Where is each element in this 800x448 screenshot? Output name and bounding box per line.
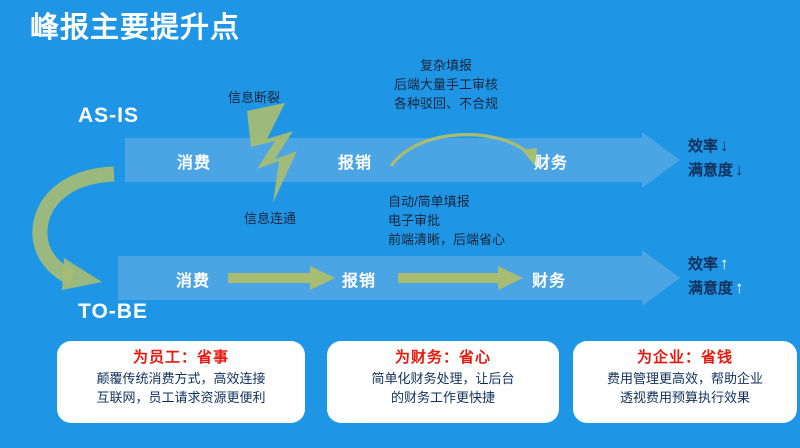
- right-arrow-icon: [228, 265, 336, 291]
- result-as-is-satisfaction: 满意度↓: [688, 158, 744, 182]
- note-complex-process: 复杂填报 后端大量手工审核 各种驳回、不合规: [394, 56, 498, 113]
- result-label: 效率: [688, 256, 718, 273]
- card-title: 为财务：省心: [335, 347, 551, 369]
- lightning-bolt-icon: [245, 103, 325, 203]
- to-be-step-1: 消费: [176, 267, 210, 291]
- note-line: 前端清晰，后端省心: [388, 230, 505, 249]
- card-body-line: 简单化财务处理，让后台: [335, 369, 551, 388]
- note-simple-process: 自动/简单填报 电子审批 前端清晰，后端省心: [388, 192, 505, 249]
- card-body-line: 互联网，员工请求资源更便利: [65, 388, 297, 407]
- result-to-be-efficiency: 效率↑: [688, 252, 744, 276]
- note-line: 自动/简单填报: [388, 192, 505, 211]
- card-body-line: 费用管理更高效，帮助企业: [581, 369, 789, 388]
- note-information-break: 信息断裂: [228, 88, 280, 107]
- stage-label-as-is: AS-IS: [78, 104, 139, 128]
- card-body: 费用管理更高效，帮助企业 透视费用预算执行效果: [581, 369, 789, 407]
- card-title: 为企业：省钱: [581, 347, 789, 369]
- trend-up-icon: ↑: [733, 278, 744, 297]
- arc-arrow-icon: [385, 122, 545, 172]
- result-block-as-is: 效率↓ 满意度↓: [688, 134, 744, 182]
- to-be-step-3: 财务: [532, 267, 566, 291]
- result-to-be-satisfaction: 满意度↑: [688, 276, 744, 300]
- trend-down-icon: ↓: [733, 160, 744, 179]
- stage-label-to-be: TO-BE: [78, 300, 148, 324]
- right-arrow-icon: [398, 265, 524, 291]
- result-label: 满意度: [688, 162, 733, 179]
- card-body-line: 透视费用预算执行效果: [581, 388, 789, 407]
- note-line: 各种驳回、不合规: [394, 94, 498, 113]
- trend-up-icon: ↑: [718, 254, 729, 273]
- band-arrowhead: [642, 250, 680, 306]
- note-information-connected: 信息连通: [244, 209, 296, 228]
- card-body: 简单化财务处理，让后台 的财务工作更快捷: [335, 369, 551, 407]
- note-line: 复杂填报: [394, 56, 498, 75]
- band-arrowhead: [642, 132, 680, 188]
- as-is-step-2: 报销: [338, 149, 372, 173]
- note-line: 后端大量手工审核: [394, 75, 498, 94]
- trend-down-icon: ↓: [718, 136, 729, 155]
- result-as-is-efficiency: 效率↓: [688, 134, 744, 158]
- card-title: 为员工：省事: [65, 347, 297, 369]
- slide-canvas: 峰报主要提升点 AS-IS 消费 报销 财务 效率↓ 满意度↓ 信息断裂 复杂填…: [0, 0, 800, 448]
- note-line: 电子审批: [388, 211, 505, 230]
- to-be-step-2: 报销: [342, 267, 376, 291]
- result-block-to-be: 效率↑ 满意度↑: [688, 252, 744, 300]
- page-title: 峰报主要提升点: [30, 8, 240, 48]
- card-body: 颠覆传统消费方式，高效连接 互联网，员工请求资源更便利: [65, 369, 297, 407]
- result-label: 效率: [688, 138, 718, 155]
- card-body-line: 颠覆传统消费方式，高效连接: [65, 369, 297, 388]
- benefit-card-employee: 为员工：省事 颠覆传统消费方式，高效连接 互联网，员工请求资源更便利: [57, 341, 305, 423]
- benefit-card-enterprise: 为企业：省钱 费用管理更高效，帮助企业 透视费用预算执行效果: [573, 341, 797, 423]
- benefit-card-finance: 为财务：省心 简单化财务处理，让后台 的财务工作更快捷: [327, 341, 559, 423]
- result-label: 满意度: [688, 280, 733, 297]
- as-is-step-1: 消费: [177, 149, 211, 173]
- card-body-line: 的财务工作更快捷: [335, 388, 551, 407]
